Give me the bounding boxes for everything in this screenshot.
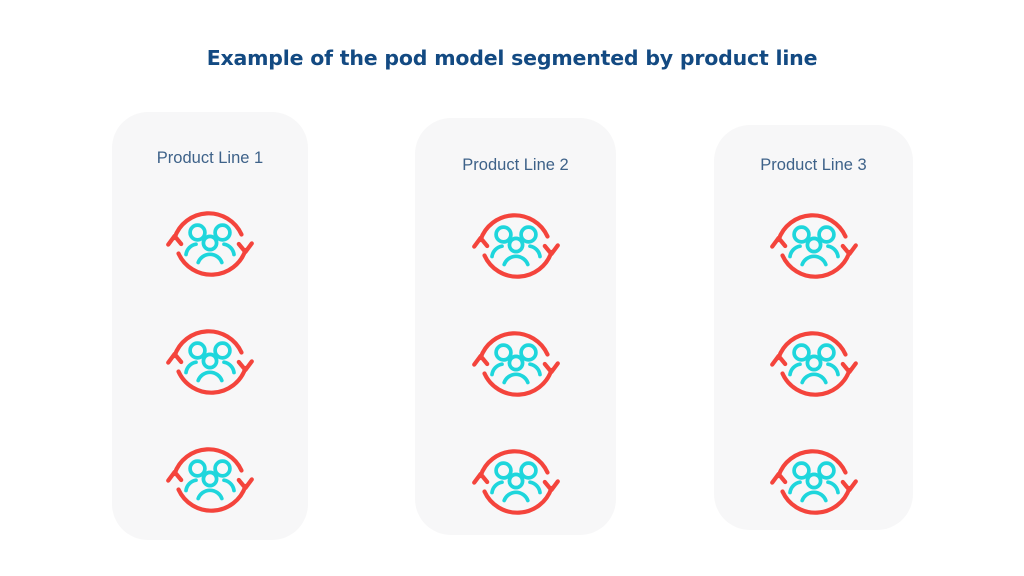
pod-cycle-people-icon: [468, 316, 564, 412]
pod-cycle-people-icon: [162, 432, 258, 528]
cycle-arrows-icon: [772, 215, 856, 276]
pod-cycle-people-icon: [468, 434, 564, 530]
pod-stack: [415, 198, 616, 530]
pod-cycle-people-icon: [162, 432, 258, 528]
product-line-label: Product Line 1: [112, 149, 308, 168]
pod-stack: [112, 196, 308, 528]
pod-cycle-people-icon: [766, 434, 862, 530]
pod-cycle-people-icon: [162, 196, 258, 292]
pod-cycle-people-icon: [162, 314, 258, 410]
cycle-arrows-icon: [772, 333, 856, 394]
people-group-icon: [492, 345, 540, 382]
pod-cycle-people-icon: [766, 198, 862, 294]
people-group-icon: [790, 463, 838, 500]
people-group-icon: [492, 227, 540, 264]
cycle-arrows-icon: [168, 331, 252, 392]
pod-cycle-people-icon: [766, 316, 862, 412]
pod-cycle-people-icon: [162, 196, 258, 292]
product-line-card: Product Line 2: [415, 118, 616, 535]
cycle-arrows-icon: [168, 213, 252, 274]
pod-cycle-people-icon: [162, 314, 258, 410]
people-group-icon: [790, 227, 838, 264]
pod-cycle-people-icon: [766, 434, 862, 530]
pod-cycle-people-icon: [468, 316, 564, 412]
pod-cycle-people-icon: [468, 198, 564, 294]
pod-stack: [714, 198, 913, 530]
cycle-arrows-icon: [772, 451, 856, 512]
page-title: Example of the pod model segmented by pr…: [0, 46, 1024, 70]
product-line-card: Product Line 3: [714, 125, 913, 530]
pod-cycle-people-icon: [468, 434, 564, 530]
people-group-icon: [186, 461, 234, 498]
cycle-arrows-icon: [168, 449, 252, 510]
product-line-label: Product Line 3: [714, 156, 913, 175]
cycle-arrows-icon: [474, 333, 558, 394]
pod-cycle-people-icon: [766, 316, 862, 412]
diagram-canvas: Example of the pod model segmented by pr…: [0, 0, 1024, 576]
people-group-icon: [790, 345, 838, 382]
cycle-arrows-icon: [474, 215, 558, 276]
pod-cycle-people-icon: [468, 198, 564, 294]
people-group-icon: [186, 343, 234, 380]
people-group-icon: [492, 463, 540, 500]
pod-cycle-people-icon: [766, 198, 862, 294]
cycle-arrows-icon: [474, 451, 558, 512]
people-group-icon: [186, 225, 234, 262]
product-line-label: Product Line 2: [415, 156, 616, 175]
product-line-card: Product Line 1: [112, 112, 308, 540]
